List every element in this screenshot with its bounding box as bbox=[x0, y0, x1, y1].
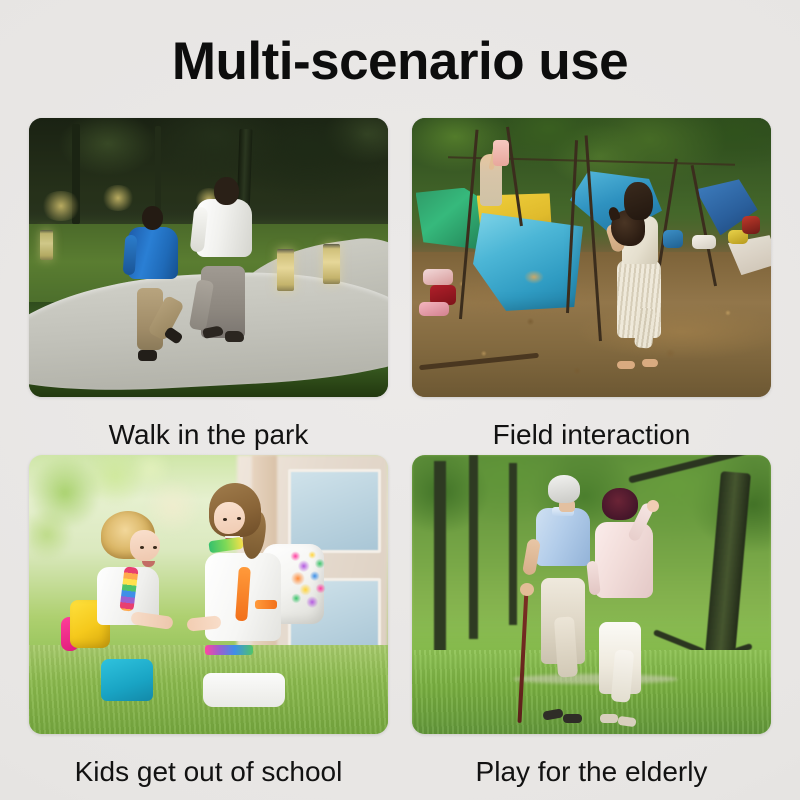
boy-shoe bbox=[138, 350, 157, 361]
woman-bare-foot bbox=[642, 359, 658, 367]
scenario-card-play-for-the-elderly[interactable]: Play for the elderly bbox=[412, 455, 771, 791]
camp-debris bbox=[692, 235, 716, 249]
tree-trunk bbox=[509, 463, 517, 625]
park-bollard-light bbox=[40, 230, 53, 260]
boy-head bbox=[142, 206, 163, 230]
woman-pink-jacket bbox=[595, 522, 653, 598]
tree-trunk bbox=[434, 461, 446, 662]
man-beige-trousers bbox=[554, 616, 578, 677]
scenario-card-field-interaction[interactable]: Field interaction bbox=[412, 118, 771, 454]
caption-walk-in-the-park: Walk in the park bbox=[29, 416, 388, 454]
woman-burgundy-hair bbox=[602, 488, 638, 520]
park-bollard-light bbox=[277, 249, 294, 291]
woman-pointing-hand bbox=[647, 500, 659, 512]
man-blue-polo-shirt bbox=[536, 508, 590, 566]
woman-bare-foot bbox=[617, 361, 635, 369]
hanging-laundry bbox=[493, 140, 509, 166]
camp-debris bbox=[742, 216, 760, 234]
backpack-colored-dots bbox=[287, 550, 329, 612]
caption-field-interaction: Field interaction bbox=[412, 416, 771, 454]
girl-white-skirt bbox=[203, 673, 285, 707]
man-white-hair bbox=[548, 475, 580, 503]
man-hand-on-cane bbox=[520, 583, 534, 596]
adult-head bbox=[214, 177, 239, 205]
scenario-card-kids-get-out-of-school[interactable]: Kids get out of school bbox=[29, 455, 388, 791]
backpack-orange-buckle bbox=[255, 600, 277, 609]
woman-hair bbox=[624, 182, 653, 220]
park-path-far bbox=[513, 674, 678, 684]
caption-play-for-the-elderly: Play for the elderly bbox=[412, 753, 771, 791]
man-shoe bbox=[563, 714, 582, 723]
photo-play-for-the-elderly[interactable] bbox=[412, 455, 771, 734]
background-light-glow bbox=[40, 191, 82, 221]
camp-debris bbox=[423, 269, 453, 285]
tree-trunk bbox=[469, 455, 478, 639]
photo-kids-get-out-of-school[interactable] bbox=[29, 455, 388, 734]
adult-shoe bbox=[225, 331, 244, 342]
page-title: Multi-scenario use bbox=[0, 30, 800, 94]
girl-rainbow-belt bbox=[205, 645, 253, 655]
photo-field-interaction[interactable] bbox=[412, 118, 771, 397]
photo-walk-in-the-park[interactable] bbox=[29, 118, 388, 397]
tree-trunk bbox=[155, 126, 161, 210]
girl-eye bbox=[223, 518, 227, 521]
park-bollard-light bbox=[323, 244, 340, 284]
park-grass bbox=[412, 650, 771, 734]
camp-debris bbox=[419, 302, 449, 316]
woman-shoe bbox=[600, 714, 618, 723]
caption-kids-get-out-of-school: Kids get out of school bbox=[29, 753, 388, 791]
page-root: Multi-scenario use bbox=[0, 0, 800, 800]
scenario-grid: Walk in the park bbox=[29, 118, 771, 778]
child-turquoise-shorts bbox=[101, 659, 153, 701]
child-eye bbox=[140, 546, 144, 549]
background-light-glow bbox=[101, 185, 135, 211]
camp-debris bbox=[663, 230, 683, 248]
scenario-card-walk-in-the-park[interactable]: Walk in the park bbox=[29, 118, 388, 454]
